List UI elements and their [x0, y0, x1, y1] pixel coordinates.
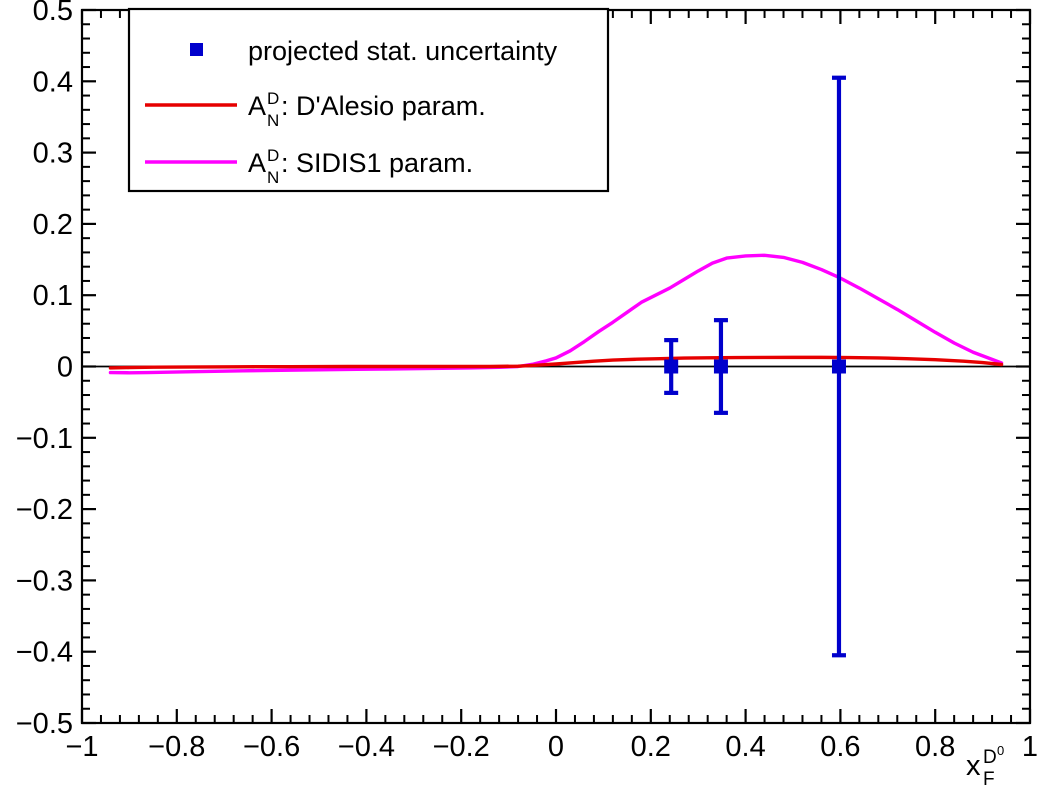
y-tick-label: −0.1: [16, 423, 73, 455]
legend-label-sidis1-rest: : SIDIS1 param.: [281, 148, 473, 178]
x-tick-label: 0.4: [725, 731, 765, 763]
legend-label-dalesio-sup: D: [267, 89, 279, 108]
y-tick-label: 0.4: [33, 66, 73, 98]
legend-label-sidis1-sub: N: [267, 168, 279, 187]
y-tick-label: 0: [57, 352, 73, 384]
y-tick-label: −0.5: [16, 708, 73, 740]
legend: projected stat. uncertaintyAND: D'Alesio…: [129, 9, 608, 191]
y-tick-label: −0.2: [16, 494, 73, 526]
y-tick-label: 0.5: [33, 0, 73, 27]
y-tick-label: 0.1: [33, 280, 73, 312]
x-tick-label: −0.8: [148, 731, 205, 763]
x-tick-label: −0.4: [338, 731, 395, 763]
y-tick-label: −0.3: [16, 565, 73, 597]
y-tick-label: −0.4: [16, 637, 73, 669]
x-tick-label: 0.6: [820, 731, 860, 763]
legend-marker-projected: [190, 43, 203, 56]
legend-label-projected: projected stat. uncertainty: [248, 36, 558, 66]
x-title-sup: D: [983, 747, 997, 768]
x-tick-label: −0.2: [433, 731, 490, 763]
x-title-sub: F: [983, 769, 995, 790]
x-tick-label: 1: [1022, 731, 1038, 763]
legend-label-dalesio-rest: : D'Alesio param.: [281, 91, 486, 121]
data-point-marker: [714, 360, 728, 374]
x-title-sup2: 0: [997, 743, 1004, 758]
x-tick-label: 0.2: [631, 731, 671, 763]
x-tick-label: 0: [548, 731, 564, 763]
legend-label-sidis1-base: A: [248, 148, 266, 178]
x-tick-label: −0.6: [243, 731, 300, 763]
data-point-marker: [664, 360, 678, 374]
y-tick-label: 0.3: [33, 138, 73, 170]
y-tick-label: 0.2: [33, 209, 73, 241]
legend-label-sidis1-sup: D: [267, 146, 279, 165]
plot-canvas: −1−0.8−0.6−0.4−0.200.20.40.60.81 −0.5−0.…: [0, 0, 1051, 797]
legend-label-dalesio-base: A: [248, 91, 266, 121]
data-point-marker: [832, 360, 846, 374]
chart-svg: −1−0.8−0.6−0.4−0.200.20.40.60.81 −0.5−0.…: [0, 0, 1051, 797]
legend-label-dalesio-sub: N: [267, 111, 279, 130]
x-title-base: x: [966, 750, 981, 782]
x-tick-label: 0.8: [915, 731, 955, 763]
